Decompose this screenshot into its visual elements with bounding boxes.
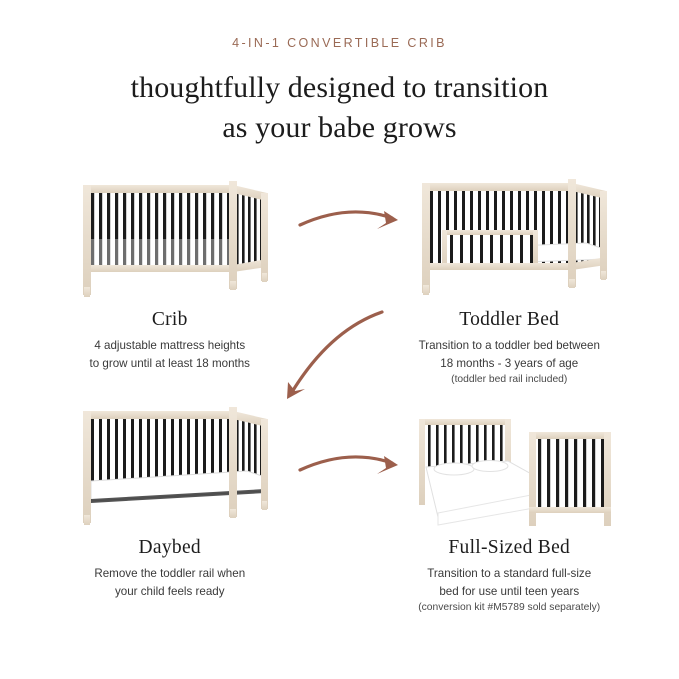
- stages-grid: Crib 4 adjustable mattress heights to gr…: [0, 167, 679, 615]
- caption-line: 4 adjustable mattress heights: [90, 337, 250, 354]
- headline-line-2: as your babe grows: [0, 108, 679, 148]
- stage-title-crib: Crib: [152, 309, 188, 331]
- caption-note: (toddler bed rail included): [419, 372, 600, 387]
- crib-illustration: [51, 167, 289, 307]
- stage-caption-crib: 4 adjustable mattress heights to grow un…: [90, 337, 250, 372]
- caption-line: Transition to a standard full-size: [418, 565, 600, 582]
- caption-line: Transition to a toddler bed between: [419, 337, 600, 354]
- stage-caption-toddler-bed: Transition to a toddler bed between 18 m…: [419, 337, 600, 387]
- caption-line: 18 months - 3 years of age: [419, 355, 600, 372]
- stage-crib: Crib 4 adjustable mattress heights to gr…: [0, 167, 340, 387]
- stage-title-toddler-bed: Toddler Bed: [459, 309, 559, 331]
- full-sized-bed-illustration: [390, 395, 628, 535]
- caption-line: Remove the toddler rail when: [94, 565, 245, 582]
- header: 4-IN-1 CONVERTIBLE CRIB thoughtfully des…: [0, 0, 679, 147]
- caption-line: bed for use until teen years: [418, 583, 600, 600]
- caption-note: (conversion kit #M5789 sold separately): [418, 600, 600, 615]
- stage-toddler-bed: Toddler Bed Transition to a toddler bed …: [340, 167, 679, 387]
- stage-caption-daybed: Remove the toddler rail when your child …: [94, 565, 245, 600]
- stage-daybed: Daybed Remove the toddler rail when your…: [0, 395, 340, 615]
- page-title: thoughtfully designed to transition as y…: [0, 68, 679, 147]
- caption-line: to grow until at least 18 months: [90, 355, 250, 372]
- caption-line: your child feels ready: [94, 583, 245, 600]
- stage-caption-full-sized-bed: Transition to a standard full-size bed f…: [418, 565, 600, 615]
- stage-full-sized-bed: Full-Sized Bed Transition to a standard …: [340, 395, 679, 615]
- toddler-bed-illustration: [390, 167, 628, 307]
- daybed-illustration: [51, 395, 289, 535]
- stage-title-full-sized-bed: Full-Sized Bed: [448, 537, 570, 559]
- eyebrow-label: 4-IN-1 CONVERTIBLE CRIB: [0, 36, 679, 50]
- stage-title-daybed: Daybed: [139, 537, 201, 559]
- headline-line-1: thoughtfully designed to transition: [0, 68, 679, 108]
